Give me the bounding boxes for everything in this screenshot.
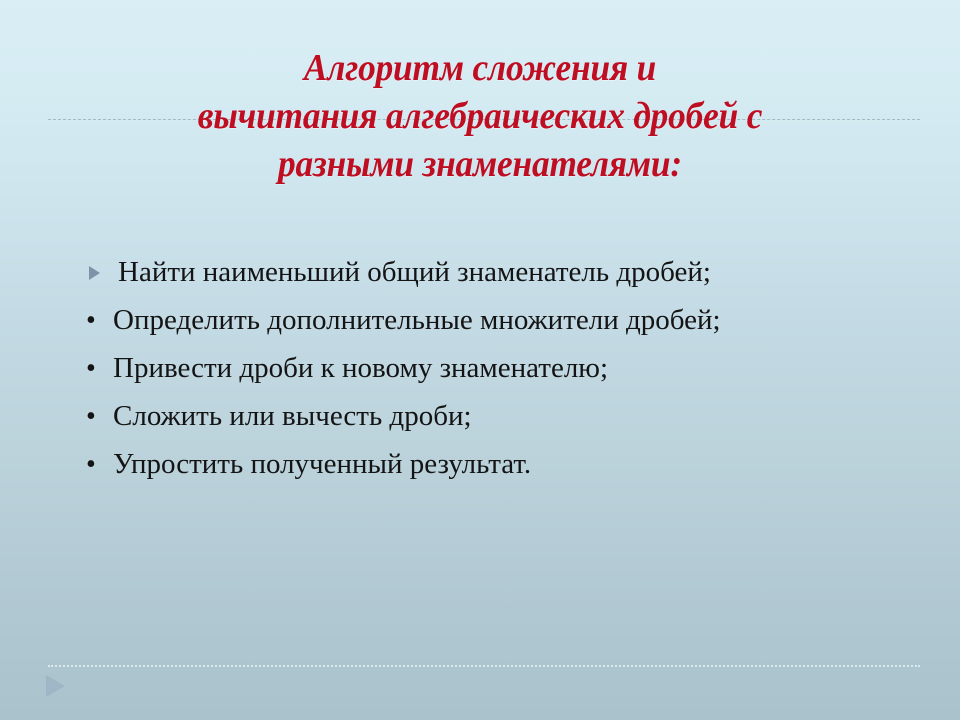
bottom-dotted-divider: [48, 665, 920, 667]
list-item: • Определить дополнительные множители др…: [86, 296, 900, 344]
algorithm-steps-list: Найти наименьший общий знаменатель дробе…: [86, 248, 900, 488]
list-item-label: Определить дополнительные множители дроб…: [113, 296, 900, 344]
list-item-label: Привести дроби к новому знаменателю;: [113, 344, 900, 392]
corner-triangle-icon: [46, 675, 65, 697]
presentation-slide: Алгоритм сложения и вычитания алгебраиче…: [0, 0, 960, 720]
list-item: • Привести дроби к новому знаменателю;: [86, 344, 900, 392]
triangle-bullet-icon: [86, 247, 113, 295]
list-item-label: Сложить или вычесть дроби;: [113, 392, 900, 440]
list-item: • Сложить или вычесть дроби;: [86, 392, 900, 440]
dot-bullet-icon: •: [86, 345, 113, 393]
list-item-label: Упростить полученный результат.: [113, 440, 900, 488]
list-item: Найти наименьший общий знаменатель дробе…: [86, 248, 900, 296]
slide-title: Алгоритм сложения и вычитания алгебраиче…: [80, 44, 880, 188]
list-item-label: Найти наименьший общий знаменатель дробе…: [113, 248, 900, 296]
dot-bullet-icon: •: [86, 393, 113, 441]
dot-bullet-icon: •: [86, 297, 113, 345]
list-item: • Упростить полученный результат.: [86, 440, 900, 488]
dot-bullet-icon: •: [86, 441, 113, 489]
